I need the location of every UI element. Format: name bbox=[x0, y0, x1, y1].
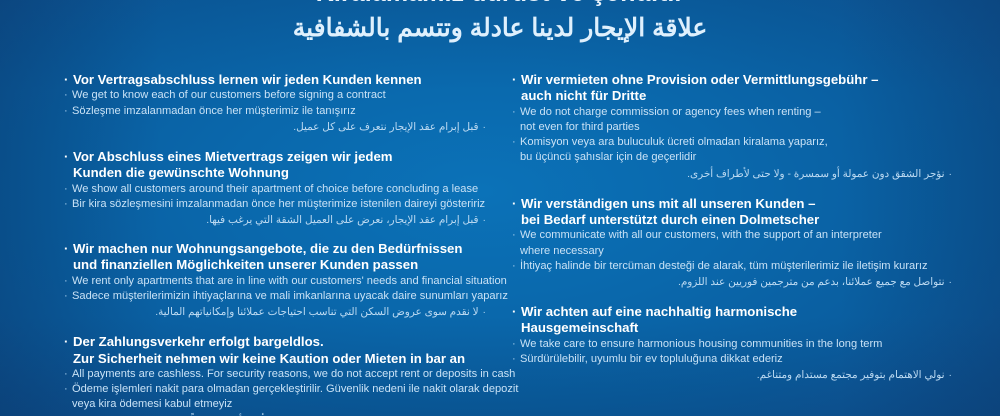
de-line: ·Wir achten auf eine nachhaltig harmonis… bbox=[512, 304, 952, 320]
ar-line: ·قبل إبرام عقد الإيجار نتعرف على كل عميل… bbox=[64, 119, 486, 135]
de-line: ·Vor Abschluss eines Mietvertrags zeigen… bbox=[64, 149, 486, 165]
bullet-icon: · bbox=[64, 197, 72, 212]
de-line: ·Wir vermieten ohne Provision oder Vermi… bbox=[512, 72, 952, 88]
en-line: ·All payments are cashless. For security… bbox=[64, 367, 486, 382]
bullet-item: ·Wir vermieten ohne Provision oder Vermi… bbox=[512, 72, 952, 182]
ar-text: قبل إبرام عقد الإيجار، نعرض على العميل ا… bbox=[206, 215, 478, 226]
bullet-item: ·Wir machen nur Wohnungsangebote, die zu… bbox=[64, 241, 486, 320]
tr-text: veya kira ödemesi kabul etmeyiz bbox=[72, 398, 232, 410]
bullet-icon: · bbox=[64, 382, 72, 397]
de-text: Wir verständigen uns mit all unseren Kun… bbox=[521, 196, 815, 211]
en-line: ·We show all customers around their apar… bbox=[64, 182, 486, 197]
ar-line: ·قبل إبرام عقد الإيجار، نعرض على العميل … bbox=[64, 212, 486, 228]
ar-line: ·لا نقدم سوى عروض السكن التي تناسب احتيا… bbox=[64, 304, 486, 320]
de-text: Zur Sicherheit nehmen wir keine Kaution … bbox=[73, 351, 465, 366]
de-text: Hausgemeinschaft bbox=[521, 320, 638, 335]
en-line: where necessary bbox=[512, 244, 952, 259]
tr-text: Komisyon veya ara buluculuk ücreti olmad… bbox=[520, 136, 828, 148]
de-text: Kunden die gewünschte Wohnung bbox=[73, 165, 289, 180]
de-text: Wir vermieten ohne Provision oder Vermit… bbox=[521, 72, 878, 87]
left-column: ·Vor Vertragsabschluss lernen wir jeden … bbox=[0, 72, 500, 416]
bullet-icon: · bbox=[512, 135, 520, 150]
bullet-icon: · bbox=[64, 289, 72, 304]
bullet-icon: · bbox=[64, 72, 73, 88]
ar-text: نؤجر الشقق دون عمولة أو سمسرة - ولا حتى … bbox=[687, 169, 944, 180]
title-arabic: علاقة الإيجار لدينا عادلة وتتسم بالشفافي… bbox=[0, 8, 1000, 46]
de-text: und finanziellen Möglichkeiten unserer K… bbox=[73, 257, 418, 272]
en-line: ·We do not charge commission or agency f… bbox=[512, 105, 952, 120]
bullet-icon: · bbox=[64, 334, 73, 350]
bullet-icon: · bbox=[64, 88, 72, 103]
bullet-icon: · bbox=[64, 182, 72, 197]
tr-line: ·Sadece müşterilerimizin ihtiyaçlarına v… bbox=[64, 289, 486, 304]
tr-line: veya kira ödemesi kabul etmeyiz bbox=[64, 397, 486, 412]
tr-text: İhtiyaç halinde bir tercüman desteği de … bbox=[520, 260, 928, 272]
tr-line: ·Sözleşme imzalanmadan önce her müşterim… bbox=[64, 104, 486, 119]
en-text: We do not charge commission or agency fe… bbox=[520, 106, 821, 118]
de-line: auch nicht für Dritte bbox=[512, 88, 952, 104]
bullet-icon: · bbox=[512, 259, 520, 274]
right-column: ·Wir vermieten ohne Provision oder Vermi… bbox=[500, 72, 1000, 416]
de-text: Vor Vertragsabschluss lernen wir jeden K… bbox=[73, 72, 422, 87]
bullet-item: ·Vor Abschluss eines Mietvertrags zeigen… bbox=[64, 149, 486, 228]
en-text: We communicate with all our customers, w… bbox=[520, 229, 882, 241]
bullet-icon: · bbox=[512, 304, 521, 320]
en-text: We take care to ensure harmonious housin… bbox=[520, 338, 882, 350]
bullet-icon: · bbox=[64, 149, 73, 165]
en-line: not even for third parties bbox=[512, 120, 952, 135]
tr-line: ·Ödeme işlemleri nakit para olmadan gerç… bbox=[64, 382, 486, 397]
de-line: ·Der Zahlungsverkehr erfolgt bargeldlos. bbox=[64, 334, 486, 350]
en-text: We get to know each of our customers bef… bbox=[72, 89, 386, 101]
tr-line: ·Bir kira sözleşmesini imzalanmadan önce… bbox=[64, 197, 486, 212]
en-line: ·We communicate with all our customers, … bbox=[512, 228, 952, 243]
de-text: Wir achten auf eine nachhaltig harmonisc… bbox=[521, 304, 797, 319]
de-text: bei Bedarf unterstützt durch einen Dolme… bbox=[521, 212, 819, 227]
en-line: ·We rent only apartments that are in lin… bbox=[64, 274, 486, 289]
en-text: not even for third parties bbox=[520, 121, 640, 133]
bullet-icon: · bbox=[64, 274, 72, 289]
bullet-icon: · bbox=[64, 104, 72, 119]
bullet-icon: · bbox=[512, 228, 520, 243]
en-line: ·We get to know each of our customers be… bbox=[64, 88, 486, 103]
bullet-icon: · bbox=[64, 241, 73, 257]
de-line: ·Vor Vertragsabschluss lernen wir jeden … bbox=[64, 72, 486, 88]
ar-text: لا نقدم سوى عروض السكن التي تناسب احتياج… bbox=[155, 307, 478, 318]
tr-text: Bir kira sözleşmesini imzalanmadan önce … bbox=[72, 198, 485, 210]
de-line: bei Bedarf unterstützt durch einen Dolme… bbox=[512, 212, 952, 228]
de-line: Kunden die gewünschte Wohnung bbox=[64, 165, 486, 181]
en-text: We show all customers around their apart… bbox=[72, 183, 478, 195]
bullet-icon: · bbox=[512, 105, 520, 120]
bullet-item: ·Der Zahlungsverkehr erfolgt bargeldlos.… bbox=[64, 334, 486, 416]
tr-text: Ödeme işlemleri nakit para olmadan gerçe… bbox=[72, 383, 518, 395]
de-text: Der Zahlungsverkehr erfolgt bargeldlos. bbox=[73, 334, 324, 349]
tr-text: bu üçüncü şahıslar için de geçerlidir bbox=[520, 151, 696, 163]
bullet-icon: · bbox=[479, 215, 486, 226]
bullet-icon: · bbox=[512, 352, 520, 367]
ar-line: ·نولي الاهتمام بتوفير مجتمع مستدام ومتنا… bbox=[512, 367, 952, 383]
de-text: auch nicht für Dritte bbox=[521, 88, 646, 103]
bullet-icon: · bbox=[945, 169, 952, 180]
slide-title: Kiralamamız dürüst ve şeffaftır علاقة ال… bbox=[0, 0, 1000, 46]
de-line: ·Wir verständigen uns mit all unseren Ku… bbox=[512, 196, 952, 212]
en-line: ·We take care to ensure harmonious housi… bbox=[512, 337, 952, 352]
content-columns: ·Vor Vertragsabschluss lernen wir jeden … bbox=[0, 72, 1000, 416]
de-line: Zur Sicherheit nehmen wir keine Kaution … bbox=[64, 351, 486, 367]
bullet-icon: · bbox=[512, 337, 520, 352]
de-text: Wir machen nur Wohnungsangebote, die zu … bbox=[73, 241, 462, 256]
bullet-icon: · bbox=[512, 196, 521, 212]
tr-line: ·Komisyon veya ara buluculuk ücreti olma… bbox=[512, 135, 952, 150]
tr-line: ·Sürdürülebilir, uyumlu bir ev topluluğu… bbox=[512, 352, 952, 367]
bullet-item: ·Wir verständigen uns mit all unseren Ku… bbox=[512, 196, 952, 290]
ar-text: قبل إبرام عقد الإيجار نتعرف على كل عميل. bbox=[293, 122, 478, 133]
slide-root: Kiralamamız dürüst ve şeffaftır علاقة ال… bbox=[0, 0, 1000, 416]
tr-line: bu üçüncü şahıslar için de geçerlidir bbox=[512, 150, 952, 165]
de-line: Hausgemeinschaft bbox=[512, 320, 952, 336]
ar-text: نولي الاهتمام بتوفير مجتمع مستدام ومتناغ… bbox=[757, 370, 945, 381]
en-text: We rent only apartments that are in line… bbox=[72, 275, 507, 287]
bullet-icon: · bbox=[945, 277, 952, 288]
bullet-icon: · bbox=[479, 307, 486, 318]
bullet-icon: · bbox=[479, 122, 486, 133]
ar-text: نتواصل مع جميع عملائنا، بدعم من مترجمين … bbox=[678, 277, 945, 288]
bullet-item: ·Vor Vertragsabschluss lernen wir jeden … bbox=[64, 72, 486, 135]
bullet-icon: · bbox=[64, 367, 72, 382]
en-text: where necessary bbox=[520, 245, 604, 257]
tr-line: ·İhtiyaç halinde bir tercüman desteği de… bbox=[512, 259, 952, 274]
title-turkish: Kiralamamız dürüst ve şeffaftır bbox=[0, 0, 1000, 8]
de-line: ·Wir machen nur Wohnungsangebote, die zu… bbox=[64, 241, 486, 257]
de-line: und finanziellen Möglichkeiten unserer K… bbox=[64, 257, 486, 273]
ar-line: ·نؤجر الشقق دون عمولة أو سمسرة - ولا حتى… bbox=[512, 166, 952, 182]
de-text: Vor Abschluss eines Mietvertrags zeigen … bbox=[73, 149, 393, 164]
bullet-item: ·Wir achten auf eine nachhaltig harmonis… bbox=[512, 304, 952, 383]
tr-text: Sadece müşterilerimizin ihtiyaçlarına ve… bbox=[72, 290, 508, 302]
tr-text: Sözleşme imzalanmadan önce her müşterimi… bbox=[72, 105, 356, 117]
bullet-icon: · bbox=[945, 370, 952, 381]
ar-line: ·نتواصل مع جميع عملائنا، بدعم من مترجمين… bbox=[512, 274, 952, 290]
bullet-icon: · bbox=[512, 72, 521, 88]
tr-text: Sürdürülebilir, uyumlu bir ev topluluğun… bbox=[520, 353, 783, 365]
en-text: All payments are cashless. For security … bbox=[72, 368, 515, 380]
